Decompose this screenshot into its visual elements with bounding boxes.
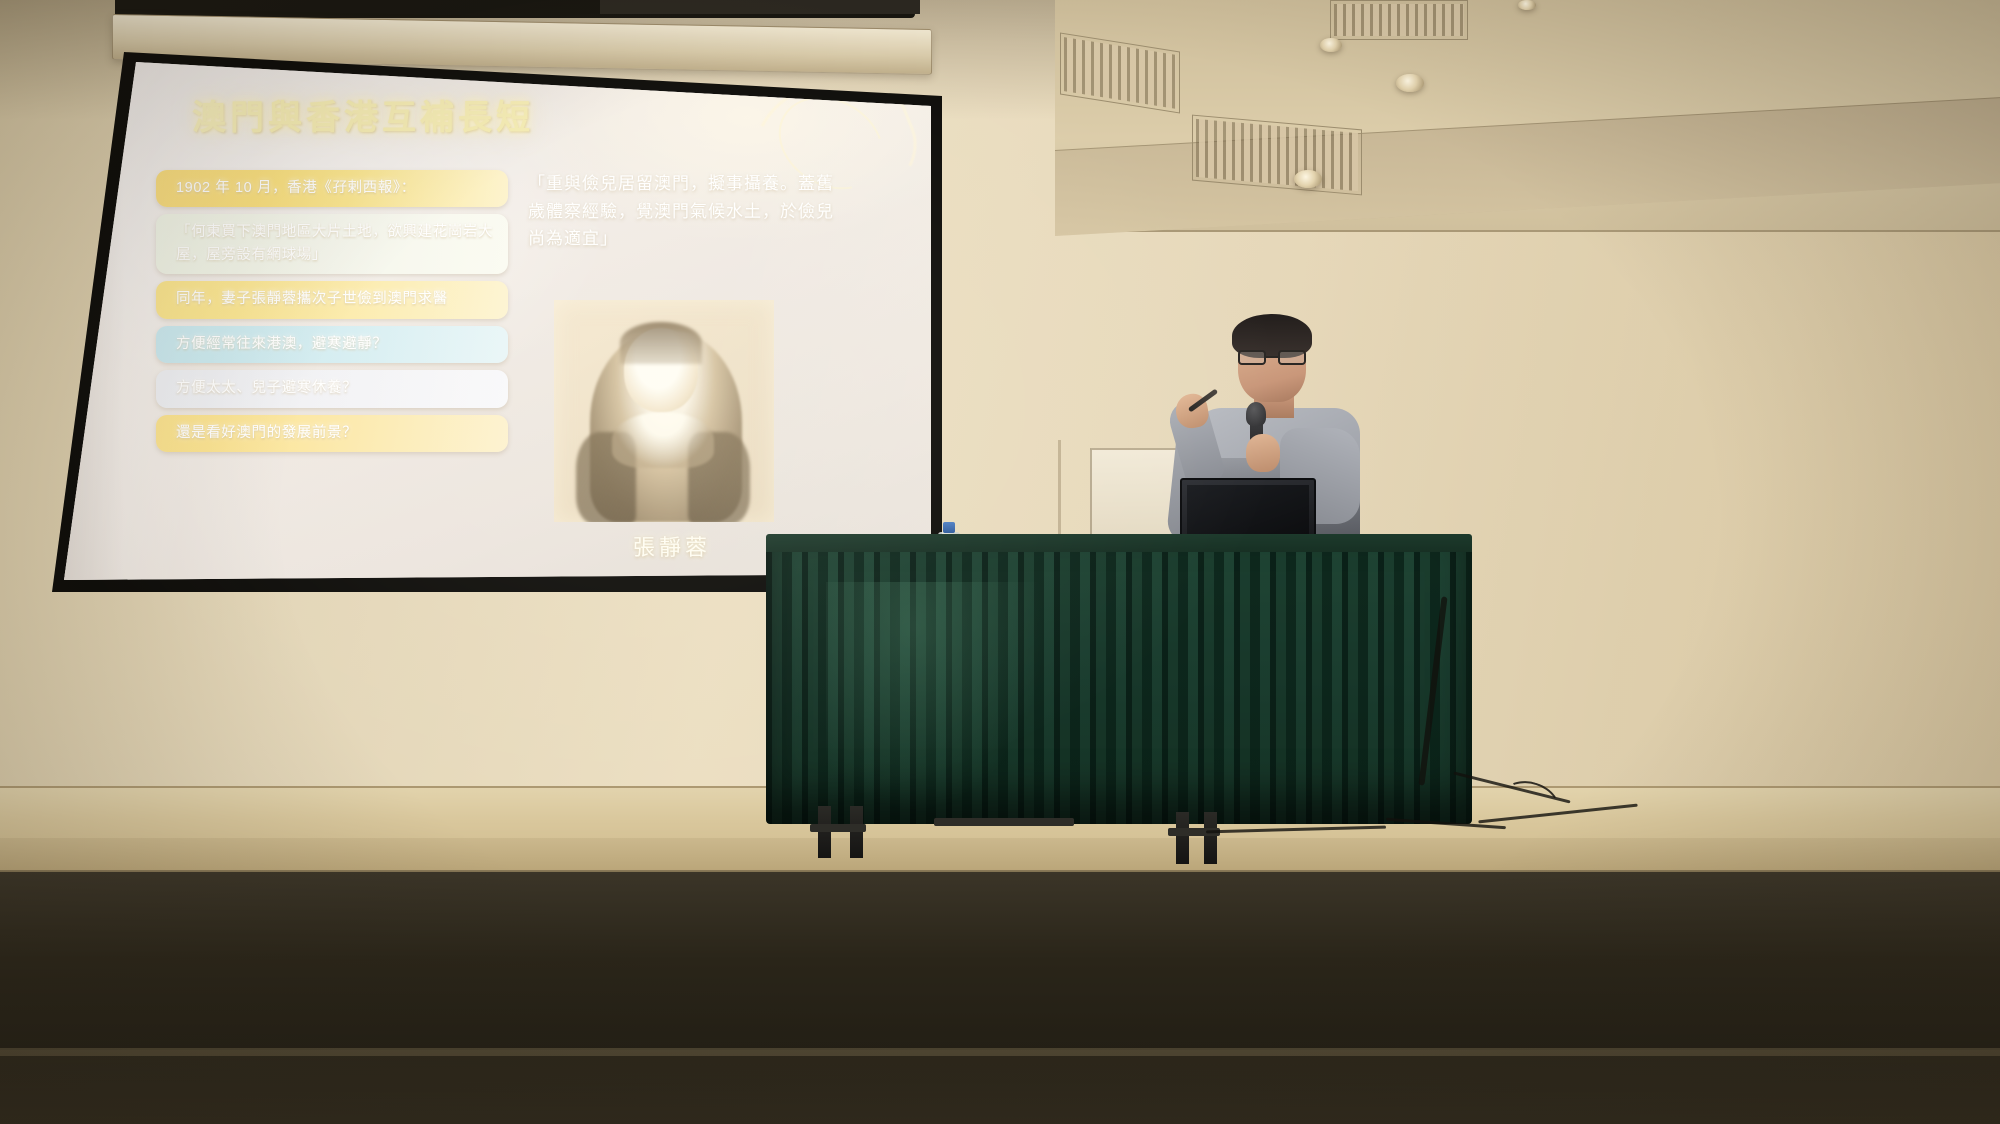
downlight-icon (1294, 170, 1322, 188)
table-leg (818, 806, 831, 858)
table-leg (1176, 812, 1189, 864)
downlight-icon (1320, 38, 1342, 52)
eyeglasses-icon (1238, 350, 1308, 366)
slide-bullet-list: 1902 年 10 月，香港《孖剌西報》： 「何東買下澳門地區大片土地，欲興建花… (156, 170, 508, 459)
bottle-cap (943, 522, 955, 533)
portrait-caption: 張靜蓉 (572, 530, 772, 562)
portrait-hair (620, 322, 702, 364)
presenter-mic-hand (1246, 434, 1280, 472)
table-leg (850, 806, 863, 858)
projection-screen: 澳門與香港互補長短 1902 年 10 月，香港《孖剌西報》： 「何東買下澳門地… (52, 52, 942, 592)
laptop-screen[interactable] (1187, 485, 1309, 535)
microphone-icon (1246, 402, 1266, 426)
table-foot (810, 824, 866, 832)
slide-box-5: 方便太太、兒子避寒休養？ (156, 370, 508, 407)
portrait-collar (612, 412, 714, 468)
table-crossbar (934, 818, 1074, 826)
laptop-lid (1180, 478, 1316, 542)
downlight-icon (1396, 74, 1424, 92)
ceiling-beam-secondary (600, 0, 920, 14)
downlight-icon (1518, 0, 1536, 10)
slide-box-3: 同年，妻子張靜蓉攜次子世儉到澳門求醫 (156, 281, 508, 318)
air-vent-icon (1330, 0, 1468, 40)
presentation-slide: 澳門與香港互補長短 1902 年 10 月，香港《孖剌西報》： 「何東買下澳門地… (52, 52, 942, 592)
slide-box-6: 還是看好澳門的發展前景？ (156, 415, 508, 452)
table-leg (1204, 812, 1217, 864)
slide-quote: 「重與儉兒居留澳門，擬事攝養。蓋舊歲體察經驗，覺澳門氣候水土，於儉兒尚為適宜」 (528, 170, 834, 253)
portrait-photo (554, 300, 774, 522)
slide-box-4: 方便經常往來港澳，避寒避靜？ (156, 326, 508, 363)
presentation-table (766, 534, 1472, 830)
slide-box-2: 「何東買下澳門地區大片土地，欲興建花崗岩大屋，屋旁設有網球場」 (156, 214, 508, 274)
slide-title: 澳門與香港互補長短 (192, 90, 534, 139)
stage-edge-shadow (0, 1050, 2000, 1124)
table-skirt-highlight (826, 582, 1046, 812)
table-skirt-cloth (766, 552, 1472, 824)
slide-box-1: 1902 年 10 月，香港《孖剌西報》： (156, 170, 508, 207)
lecture-hall-scene: 澳門與香港互補長短 1902 年 10 月，香港《孖剌西報》： 「何東買下澳門地… (0, 0, 2000, 1124)
